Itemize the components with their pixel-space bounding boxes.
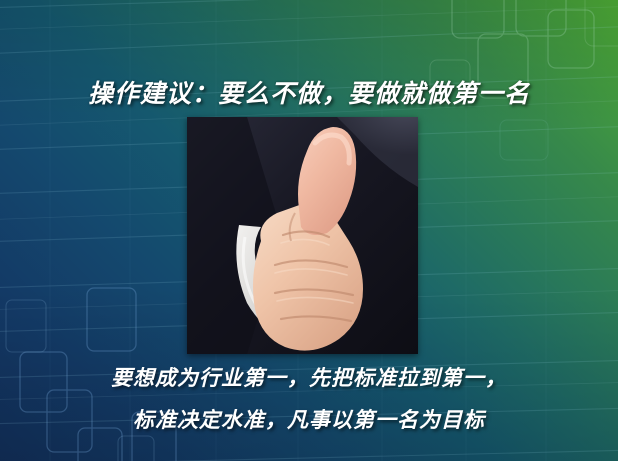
photo-image — [187, 117, 418, 354]
slide-title: 操作建议：要么不做，要做就做第一名 — [0, 74, 618, 110]
caption-line-2: 标准决定水准，凡事以第一名为目标 — [0, 404, 618, 434]
presentation-slide: 操作建议：要么不做，要做就做第一名 — [0, 0, 618, 461]
caption-line-1: 要想成为行业第一，先把标准拉到第一， — [0, 362, 618, 392]
thumbs-up-photo — [187, 117, 418, 354]
